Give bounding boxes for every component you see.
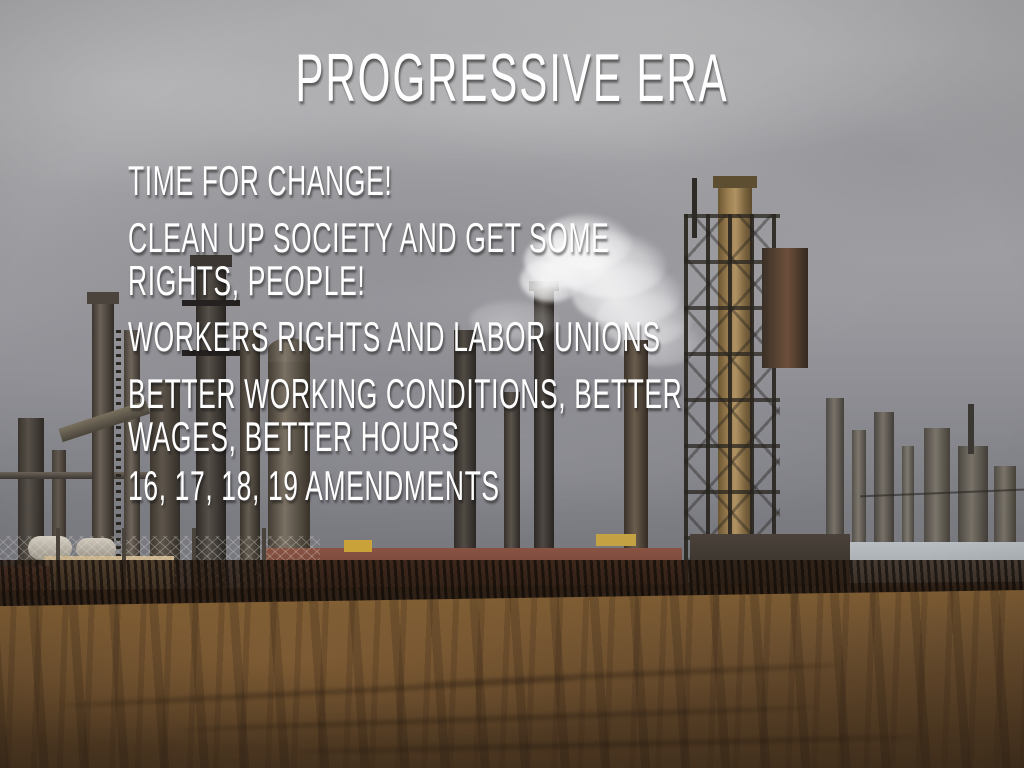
slide-canvas: PROGRESSIVE ERA TIME FOR CHANGE! CLEAN U… (0, 0, 1024, 768)
bullet-better-conditions-line1: BETTER WORKING CONDITIONS, BETTER (128, 373, 638, 416)
bullet-clean-up-society-line2: RIGHTS, PEOPLE! (128, 260, 638, 303)
slide-body: TIME FOR CHANGE! CLEAN UP SOCIETY AND GE… (128, 160, 938, 508)
bullet-better-conditions-line2: WAGES, BETTER HOURS (128, 416, 638, 459)
slide-title: PROGRESSIVE ERA (195, 44, 830, 112)
bullet-amendments: 16, 17, 18, 19 AMENDMENTS (128, 465, 638, 508)
bullet-clean-up-society-line1: CLEAN UP SOCIETY AND GET SOME (128, 217, 638, 260)
slide-text-layer: PROGRESSIVE ERA TIME FOR CHANGE! CLEAN U… (0, 0, 1024, 768)
bullet-time-for-change: TIME FOR CHANGE! (128, 160, 638, 203)
bullet-workers-rights: WORKERS RIGHTS AND LABOR UNIONS (128, 316, 638, 359)
